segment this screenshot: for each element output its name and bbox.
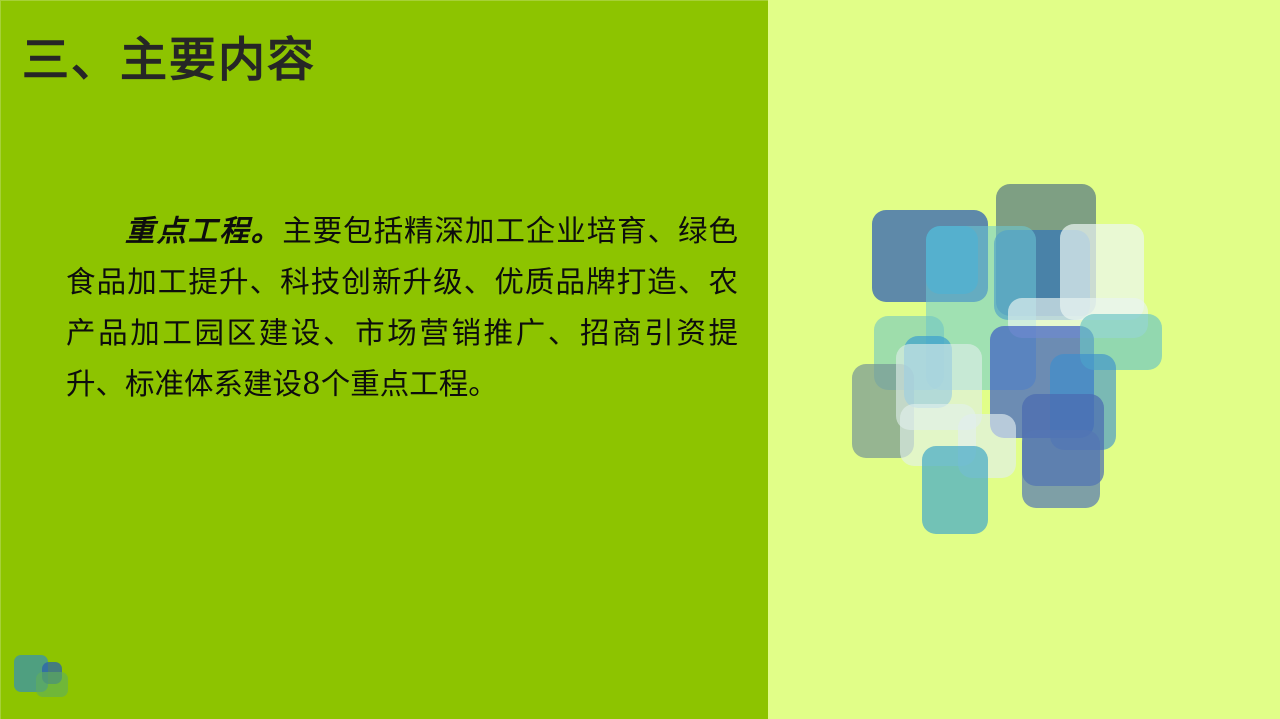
page-title: 三、主要内容 [22,30,316,92]
corner-logo [14,649,76,705]
decorative-squares-graphic [844,168,1198,554]
slide-canvas: 三、主要内容 重点工程。主要包括精深加工企业培育、绿色食品加工提升、科技创新升级… [0,0,1280,719]
logo-green-square-icon [36,672,68,697]
lead-phrase: 重点工程。 [125,213,282,248]
body-text-block: 重点工程。主要包括精深加工企业培育、绿色食品加工提升、科技创新升级、优质品牌打造… [66,205,738,410]
decor-square [1022,430,1100,508]
body-paragraph: 重点工程。主要包括精深加工企业培育、绿色食品加工提升、科技创新升级、优质品牌打造… [66,205,738,410]
decor-square [922,446,988,534]
